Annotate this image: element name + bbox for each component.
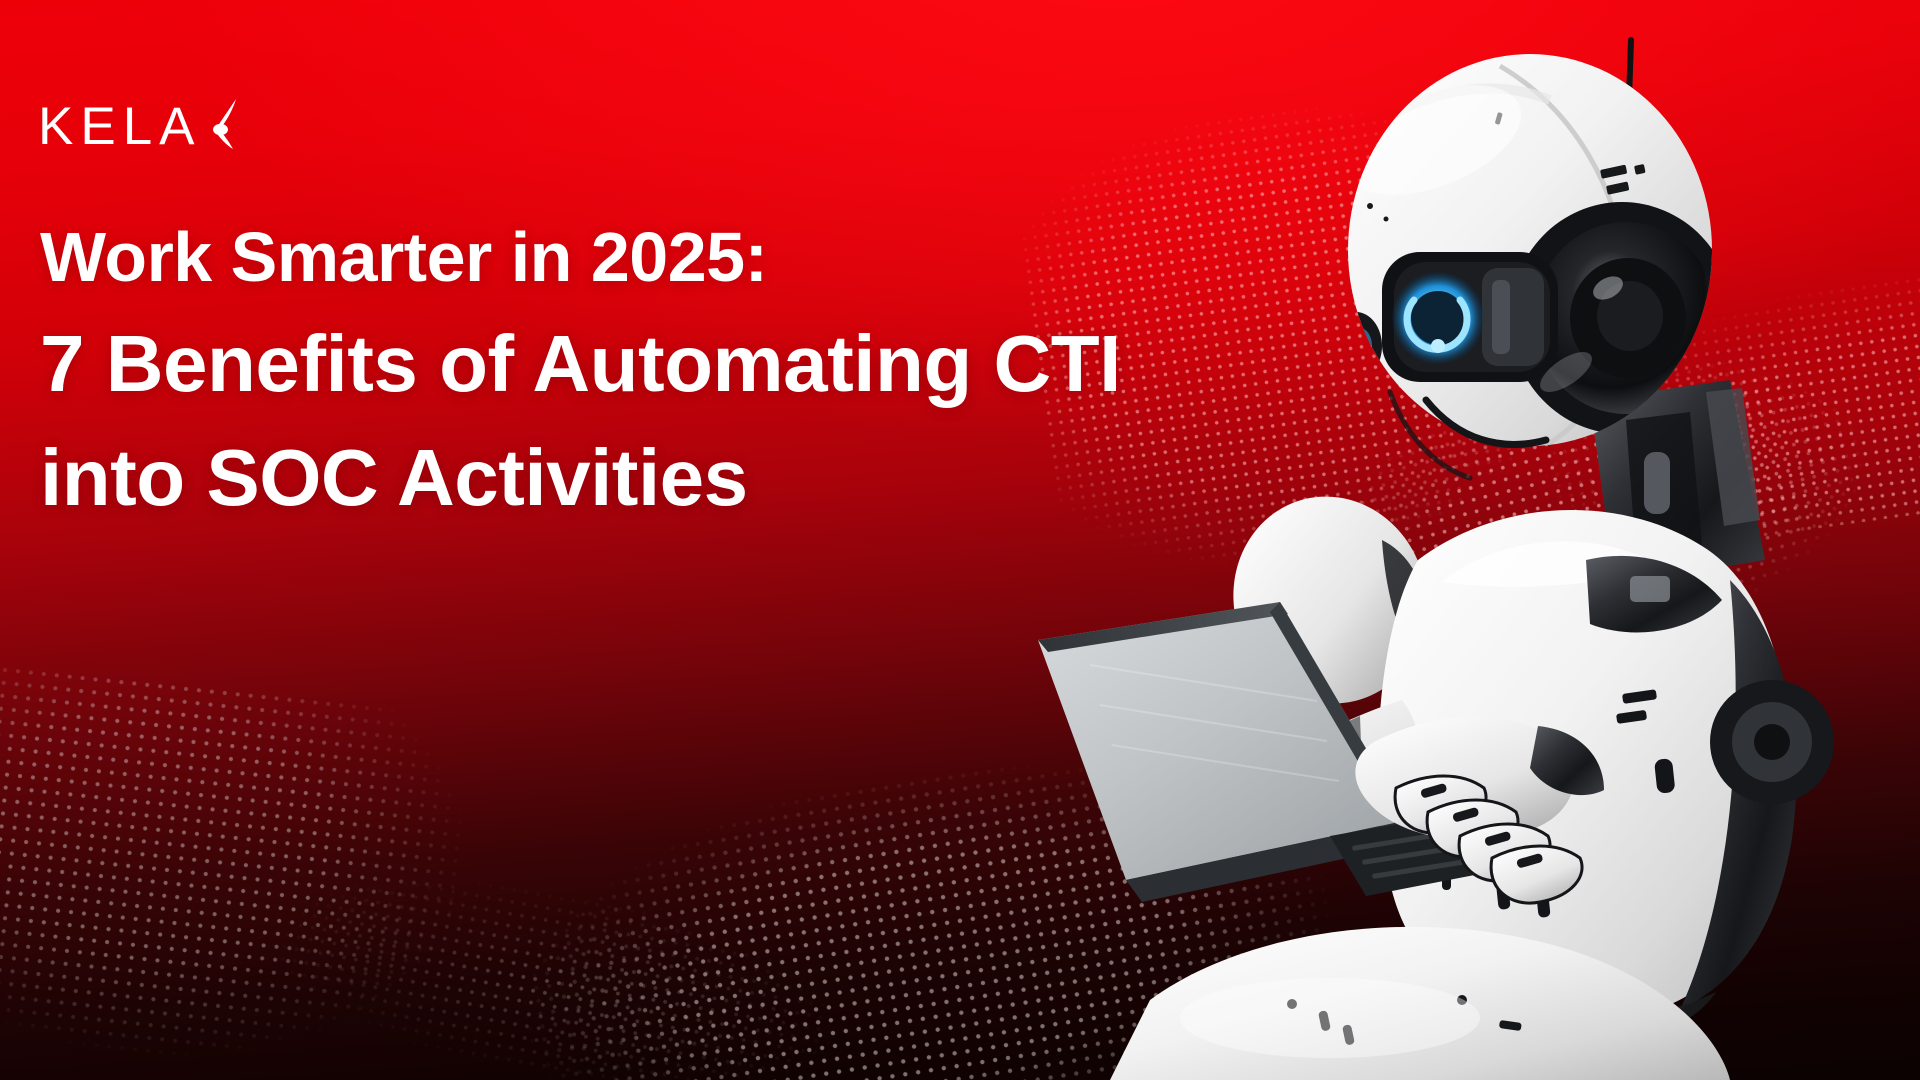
page-title: Work Smarter in 2025: 7 Benefits of Auto…: [40, 208, 1121, 535]
neck: [1590, 380, 1765, 585]
camera-eye: [1510, 202, 1734, 434]
glowing-eye: [1382, 252, 1558, 382]
headline-line-3: into SOC Activities: [40, 421, 1121, 535]
antenna: [1626, 40, 1631, 188]
fingers: [1395, 776, 1582, 903]
halftone-dot-wave-bottom-left: [0, 649, 864, 1080]
marketing-banner: KELA Work Smarter in 2025: 7 Benefits of…: [0, 0, 1920, 1080]
logo-wordmark: KELA: [38, 100, 202, 153]
halftone-dot-wave-right: [1140, 244, 1920, 835]
laptop: [1038, 602, 1542, 902]
shoulder: [1209, 474, 1451, 727]
kela-arrow-mark-icon: [206, 98, 246, 155]
halftone-dot-wave-bottom-mid: [350, 673, 1559, 1080]
headline-line-1: Work Smarter in 2025:: [40, 208, 1121, 307]
knee: [1110, 927, 1730, 1080]
halftone-dot-wave-bottom-fade: [124, 811, 977, 1080]
hand: [1355, 717, 1604, 903]
robot-illustration: [1030, 0, 1920, 1080]
torso: [1378, 510, 1834, 1044]
kela-logo[interactable]: KELA: [38, 98, 246, 155]
headline-line-2: 7 Benefits of Automating CTI: [40, 307, 1121, 421]
arm: [1216, 700, 1418, 833]
head: [1330, 54, 1734, 478]
